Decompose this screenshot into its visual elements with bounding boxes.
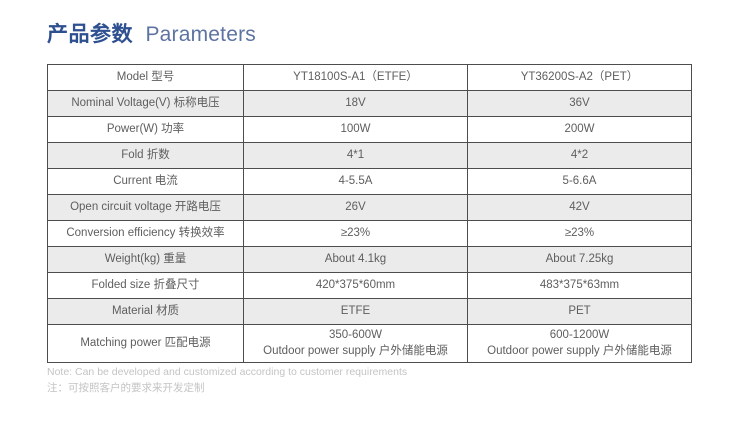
- page-title-english: Parameters: [145, 23, 256, 46]
- row-value-power-col2: 200W: [468, 117, 692, 143]
- row-label-open-circuit-voltage: Open circuit voltage 开路电压: [48, 195, 244, 221]
- matching-power-col1-line2: Outdoor power supply 户外储能电源: [248, 344, 463, 360]
- table-row: Model 型号 YT18100S-A1（ETFE） YT36200S-A2（P…: [48, 65, 692, 91]
- table-row: Weight(kg) 重量 About 4.1kg About 7.25kg: [48, 247, 692, 273]
- row-value-weight-col2: About 7.25kg: [468, 247, 692, 273]
- row-value-matching-power-col1: 350-600W Outdoor power supply 户外储能电源: [244, 325, 468, 363]
- row-value-power-col1: 100W: [244, 117, 468, 143]
- row-value-fold-col2: 4*2: [468, 143, 692, 169]
- table-row: Current 电流 4-5.5A 5-6.6A: [48, 169, 692, 195]
- matching-power-col2-lines: 600-1200W Outdoor power supply 户外储能电源: [472, 328, 687, 359]
- table-row: Matching power 匹配电源 350-600W Outdoor pow…: [48, 325, 692, 363]
- row-value-current-col2: 5-6.6A: [468, 169, 692, 195]
- row-value-fold-col1: 4*1: [244, 143, 468, 169]
- table-row: Material 材质 ETFE PET: [48, 299, 692, 325]
- table-row: Conversion efficiency 转换效率 ≥23% ≥23%: [48, 221, 692, 247]
- row-label-model: Model 型号: [48, 65, 244, 91]
- table-row: Folded size 折叠尺寸 420*375*60mm 483*375*63…: [48, 273, 692, 299]
- row-label-matching-power: Matching power 匹配电源: [48, 325, 244, 363]
- row-label-current: Current 电流: [48, 169, 244, 195]
- specifications-table: Model 型号 YT18100S-A1（ETFE） YT36200S-A2（P…: [47, 64, 692, 363]
- table-row: Nominal Voltage(V) 标称电压 18V 36V: [48, 91, 692, 117]
- row-value-folded-size-col1: 420*375*60mm: [244, 273, 468, 299]
- row-label-nominal-voltage: Nominal Voltage(V) 标称电压: [48, 91, 244, 117]
- row-label-material: Material 材质: [48, 299, 244, 325]
- row-value-conversion-efficiency-col2: ≥23%: [468, 221, 692, 247]
- row-value-open-circuit-voltage-col1: 26V: [244, 195, 468, 221]
- row-value-model-col1: YT18100S-A1（ETFE）: [244, 65, 468, 91]
- row-label-conversion-efficiency: Conversion efficiency 转换效率: [48, 221, 244, 247]
- row-value-material-col2: PET: [468, 299, 692, 325]
- row-value-folded-size-col2: 483*375*63mm: [468, 273, 692, 299]
- row-label-power: Power(W) 功率: [48, 117, 244, 143]
- row-value-current-col1: 4-5.5A: [244, 169, 468, 195]
- matching-power-col2-line2: Outdoor power supply 户外储能电源: [472, 344, 687, 360]
- row-value-conversion-efficiency-col1: ≥23%: [244, 221, 468, 247]
- table-row: Fold 折数 4*1 4*2: [48, 143, 692, 169]
- table-row: Power(W) 功率 100W 200W: [48, 117, 692, 143]
- row-label-fold: Fold 折数: [48, 143, 244, 169]
- footer-note-english: Note: Can be developed and customized ac…: [47, 364, 407, 380]
- row-value-nominal-voltage-col2: 36V: [468, 91, 692, 117]
- row-label-folded-size: Folded size 折叠尺寸: [48, 273, 244, 299]
- matching-power-col1-line1: 350-600W: [248, 328, 463, 344]
- row-value-weight-col1: About 4.1kg: [244, 247, 468, 273]
- matching-power-col2-line1: 600-1200W: [472, 328, 687, 344]
- row-label-weight: Weight(kg) 重量: [48, 247, 244, 273]
- page-title: 产品参数 Parameters: [47, 24, 256, 45]
- footer-note: Note: Can be developed and customized ac…: [47, 364, 407, 397]
- row-value-matching-power-col2: 600-1200W Outdoor power supply 户外储能电源: [468, 325, 692, 363]
- row-value-model-col2: YT36200S-A2（PET）: [468, 65, 692, 91]
- page-title-chinese: 产品参数: [47, 23, 133, 46]
- footer-note-chinese: 注：可按照客户的要求来开发定制: [47, 380, 407, 396]
- row-value-nominal-voltage-col1: 18V: [244, 91, 468, 117]
- matching-power-col1-lines: 350-600W Outdoor power supply 户外储能电源: [248, 328, 463, 359]
- table-row: Open circuit voltage 开路电压 26V 42V: [48, 195, 692, 221]
- row-value-material-col1: ETFE: [244, 299, 468, 325]
- row-value-open-circuit-voltage-col2: 42V: [468, 195, 692, 221]
